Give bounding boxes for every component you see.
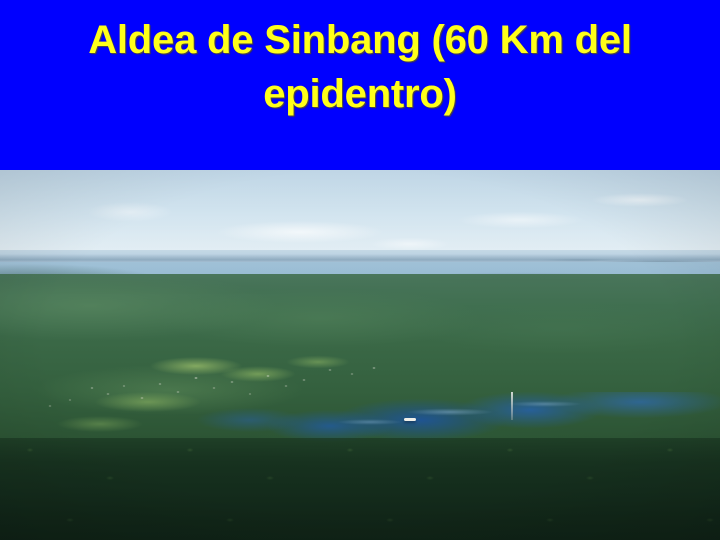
mid-water-layer xyxy=(0,262,720,382)
distant-sea-layer xyxy=(0,250,720,308)
horizon-line xyxy=(0,254,720,268)
reef-flats-layer xyxy=(0,262,720,392)
page-title: Aldea de Sinbang (60 Km del epidentro) xyxy=(26,14,694,121)
peninsula-layer xyxy=(0,298,720,408)
photo-haze-overlay xyxy=(0,170,720,540)
slide-photo xyxy=(0,170,720,540)
canopy-texture-layer xyxy=(0,420,720,540)
distant-ridge-layer xyxy=(0,248,720,294)
slide-title-bar: Aldea de Sinbang (60 Km del epidentro) xyxy=(0,0,720,170)
village-rooftops-layer xyxy=(0,348,720,420)
lagoon-reflection-layer xyxy=(0,392,720,478)
presentation-slide: Aldea de Sinbang (60 Km del epidentro) xyxy=(0,0,720,540)
forested-hills-layer xyxy=(0,274,720,540)
communication-tower-icon xyxy=(511,392,513,420)
foreground-forest-layer xyxy=(0,438,720,540)
coastal-settlement-layer xyxy=(0,300,720,370)
hill-shading-layer xyxy=(0,270,720,540)
pasture-clearings-layer xyxy=(0,350,720,450)
lagoon-layer xyxy=(0,392,720,478)
boat-icon xyxy=(404,418,416,421)
cloud-haze-layer xyxy=(0,170,720,262)
sky-layer xyxy=(0,170,720,262)
